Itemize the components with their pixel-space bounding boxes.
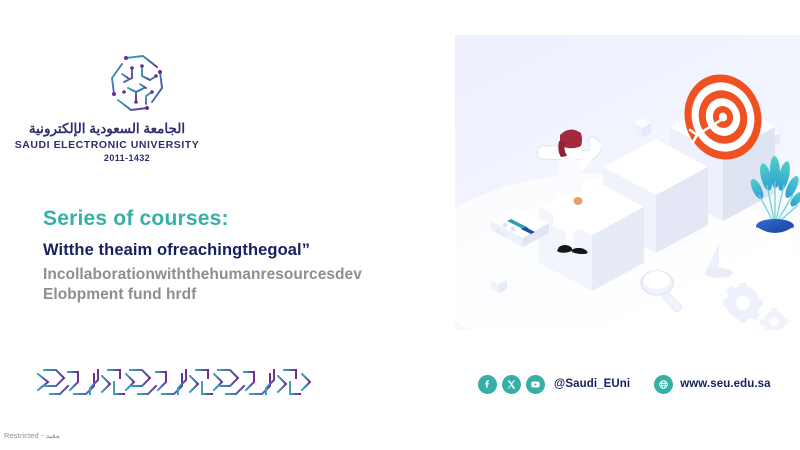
isometric-goal-steps-illustration <box>455 35 800 330</box>
x-twitter-icon[interactable] <box>502 375 521 394</box>
footer-contact-bar: @Saudi_EUni www.seu.edu.sa <box>478 370 771 398</box>
logo-arabic-name: الجامعة السعودية الإلكترونية <box>12 122 202 137</box>
headline-eyebrow: Series of courses: <box>43 206 463 231</box>
social-handle[interactable]: @Saudi_EUni <box>554 378 630 390</box>
university-logo: الجامعة السعودية الإلكترونية SAUDI ELECT… <box>12 48 202 163</box>
headline-block: Series of courses: Witthe theaim ofreach… <box>43 206 463 306</box>
logo-english-name: SAUDI ELECTRONIC UNIVERSITY <box>12 139 202 151</box>
headline-subtitle-line1: Incollaborationwiththehumanresourcesdev <box>43 265 463 285</box>
seu-hex-circuit-logo-icon <box>102 48 172 118</box>
logo-founded-years: 2011-1432 <box>12 153 202 163</box>
seu-circuit-pattern-band <box>34 366 324 398</box>
slide-canvas: الجامعة السعودية الإلكترونية SAUDI ELECT… <box>0 0 800 450</box>
globe-icon[interactable] <box>654 375 673 394</box>
classification-label: Restricted - مقيد <box>4 431 60 440</box>
headline-title: Witthe theaim ofreachingthegoal” <box>43 240 463 261</box>
website-url[interactable]: www.seu.edu.sa <box>680 378 770 390</box>
facebook-icon[interactable] <box>478 375 497 394</box>
website-group[interactable]: www.seu.edu.sa <box>654 375 770 394</box>
headline-subtitle-line2: Elobpment fund hrdf <box>43 285 463 305</box>
youtube-icon[interactable] <box>526 375 545 394</box>
illustration-artwork <box>455 35 800 330</box>
